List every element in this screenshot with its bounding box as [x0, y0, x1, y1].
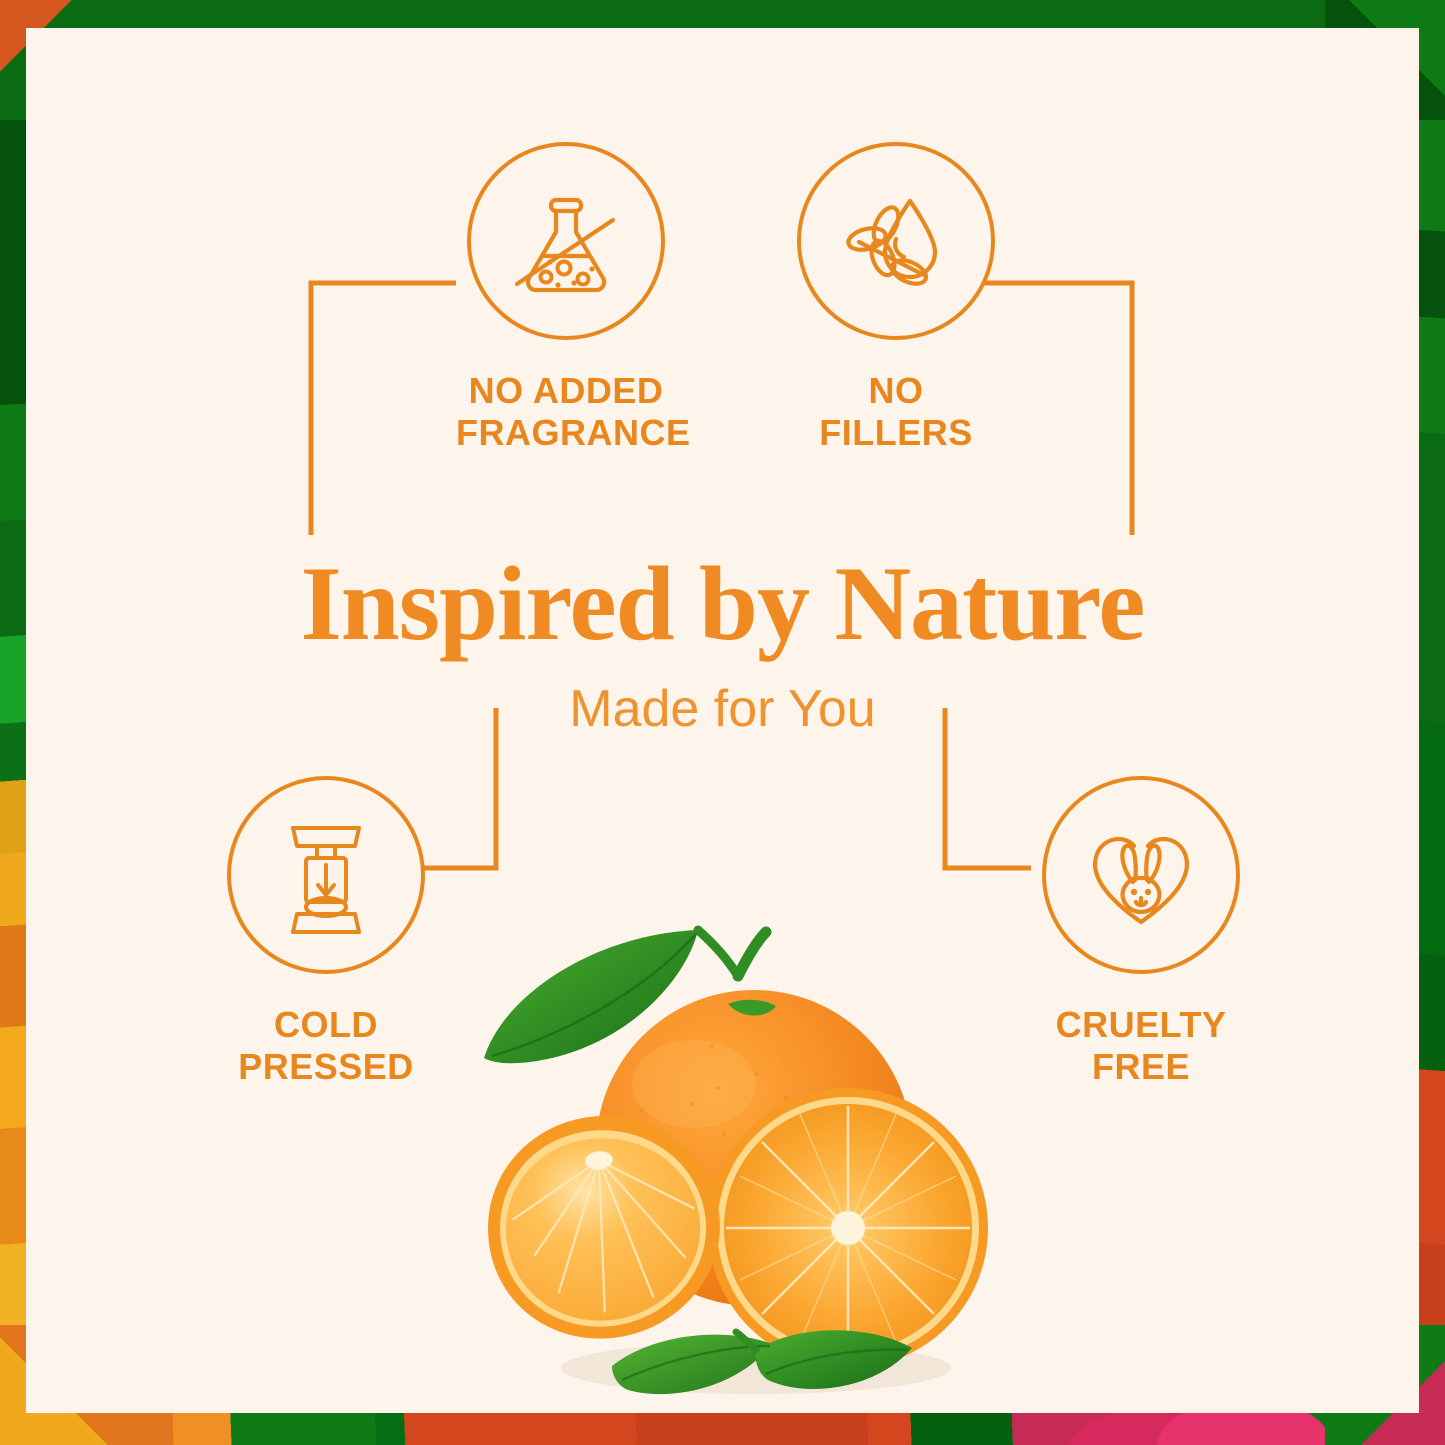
- press-machine-icon: [261, 810, 391, 940]
- badge-no-added-fragrance: NO ADDED FRAGRANCE: [456, 142, 676, 455]
- page-subtitle: Made for You: [26, 681, 1419, 738]
- badge-label: CRUELTY FREE: [1031, 1004, 1251, 1089]
- badge-cold-pressed: COLD PRESSED: [216, 776, 436, 1089]
- flask-crossed-out-icon: [501, 176, 631, 306]
- badge-ring: [797, 142, 995, 340]
- badge-ring: [1042, 776, 1240, 974]
- rabbit-heart-icon: [1076, 810, 1206, 940]
- badge-label: COLD PRESSED: [216, 1004, 436, 1089]
- badge-no-fillers: NO FILLERS: [786, 142, 1006, 455]
- content-panel: NO ADDED FRAGRANCE: [26, 28, 1419, 1413]
- poster: NO ADDED FRAGRANCE: [0, 0, 1445, 1445]
- badge-ring: [227, 776, 425, 974]
- connector-top-left: [311, 283, 456, 535]
- connector-top-right: [984, 283, 1132, 535]
- badge-label: NO ADDED FRAGRANCE: [456, 370, 676, 455]
- page-title: Inspired by Nature: [26, 548, 1419, 659]
- orange-half-slice: [708, 1088, 988, 1368]
- orange-fruit-photo: [456, 898, 1016, 1413]
- headline-block: Inspired by Nature Made for You: [26, 548, 1419, 738]
- droplet-leaf-icon: [831, 176, 961, 306]
- badge-cruelty-free: CRUELTY FREE: [1031, 776, 1251, 1089]
- badge-label: NO FILLERS: [786, 370, 1006, 455]
- badge-ring: [467, 142, 665, 340]
